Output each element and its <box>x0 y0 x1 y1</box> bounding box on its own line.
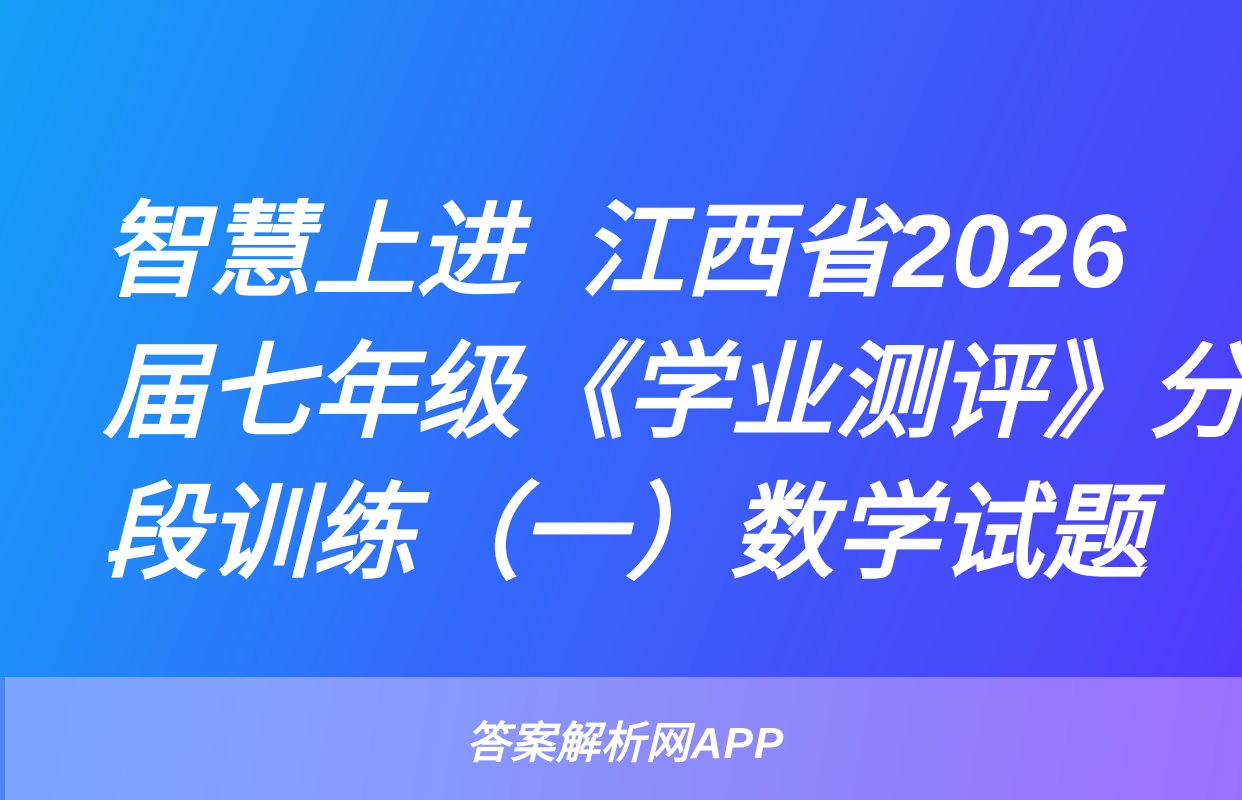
title-line-1: 智慧上进 江西省2026 <box>103 182 1163 323</box>
poster-title: 智慧上进 江西省2026 届七年级《学业测评》分 段训练（一）数学试题 <box>103 182 1163 605</box>
title-line-2: 届七年级《学业测评》分 <box>103 323 1163 464</box>
watermark-band <box>0 677 1242 800</box>
poster-canvas: 智慧上进 江西省2026 届七年级《学业测评》分 段训练（一）数学试题 答案解析… <box>0 0 1242 800</box>
title-line-3: 段训练（一）数学试题 <box>103 464 1163 605</box>
watermark-band-left-edge <box>0 677 5 800</box>
